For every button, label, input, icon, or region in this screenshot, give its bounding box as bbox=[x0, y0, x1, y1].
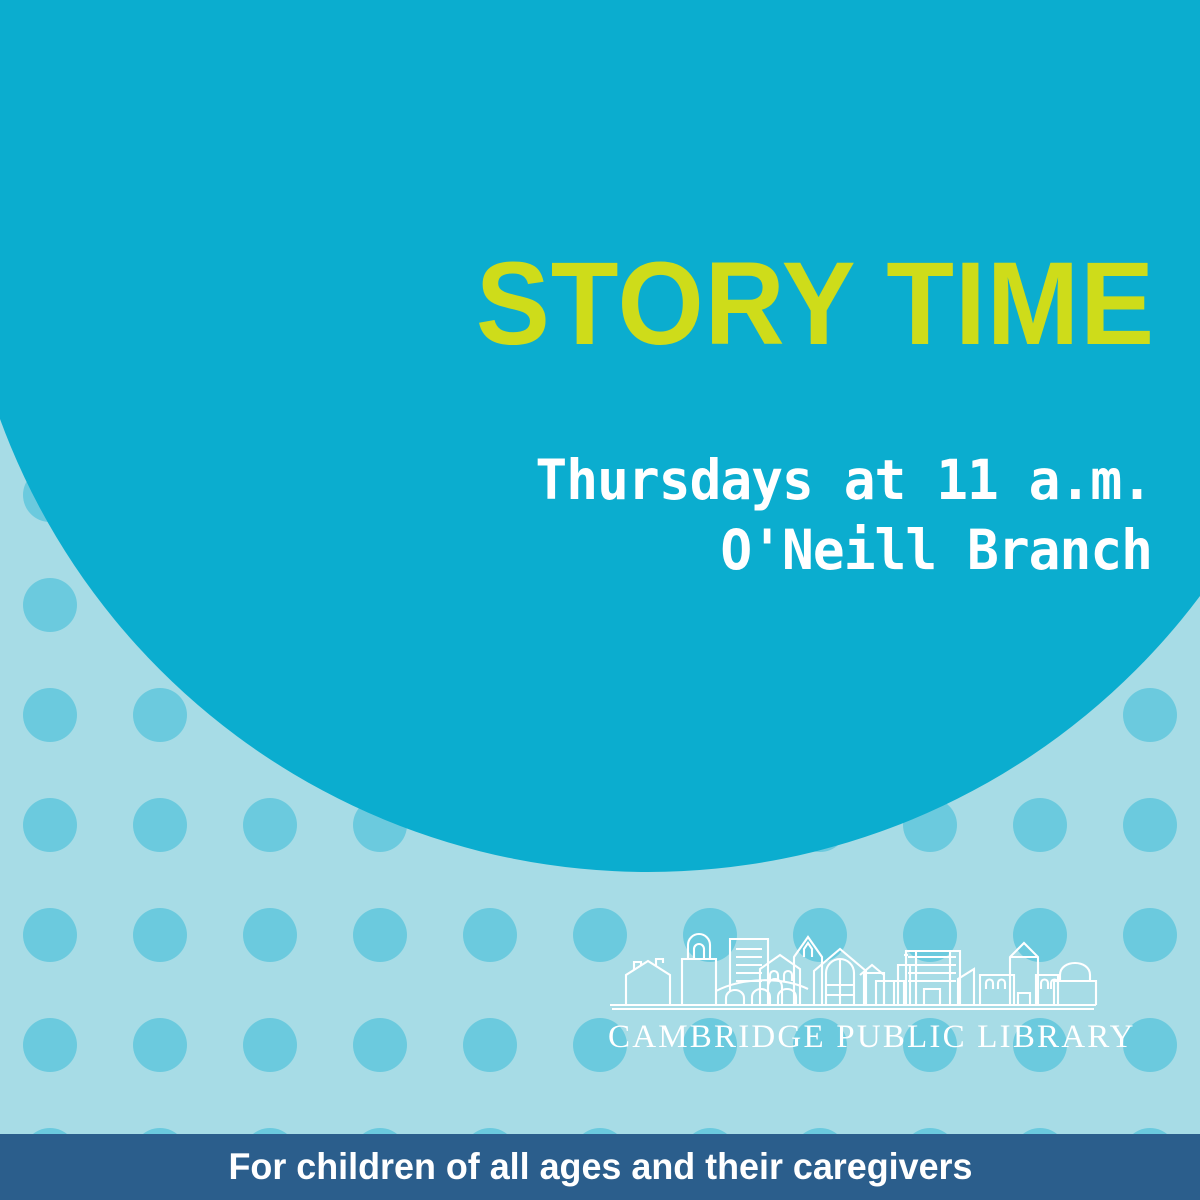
event-details: Thursdays at 11 a.m. O'Neill Branch bbox=[332, 445, 1152, 586]
poster-canvas: STORY TIME Thursdays at 11 a.m. O'Neill … bbox=[0, 0, 1200, 1200]
banner-text: For children of all ages and their careg… bbox=[228, 1146, 972, 1188]
page-title: STORY TIME bbox=[309, 245, 1155, 363]
logo-divider-rule bbox=[612, 1008, 1094, 1010]
event-time-line: Thursdays at 11 a.m. bbox=[365, 445, 1152, 515]
bottom-banner: For children of all ages and their careg… bbox=[0, 1134, 1200, 1200]
city-skyline-icon bbox=[608, 925, 1098, 1007]
event-location-line: O'Neill Branch bbox=[365, 515, 1152, 585]
library-logo: CAMBRIDGE PUBLIC LIBRARY bbox=[608, 925, 1098, 1056]
logo-wordmark: CAMBRIDGE PUBLIC LIBRARY bbox=[608, 1019, 1098, 1056]
